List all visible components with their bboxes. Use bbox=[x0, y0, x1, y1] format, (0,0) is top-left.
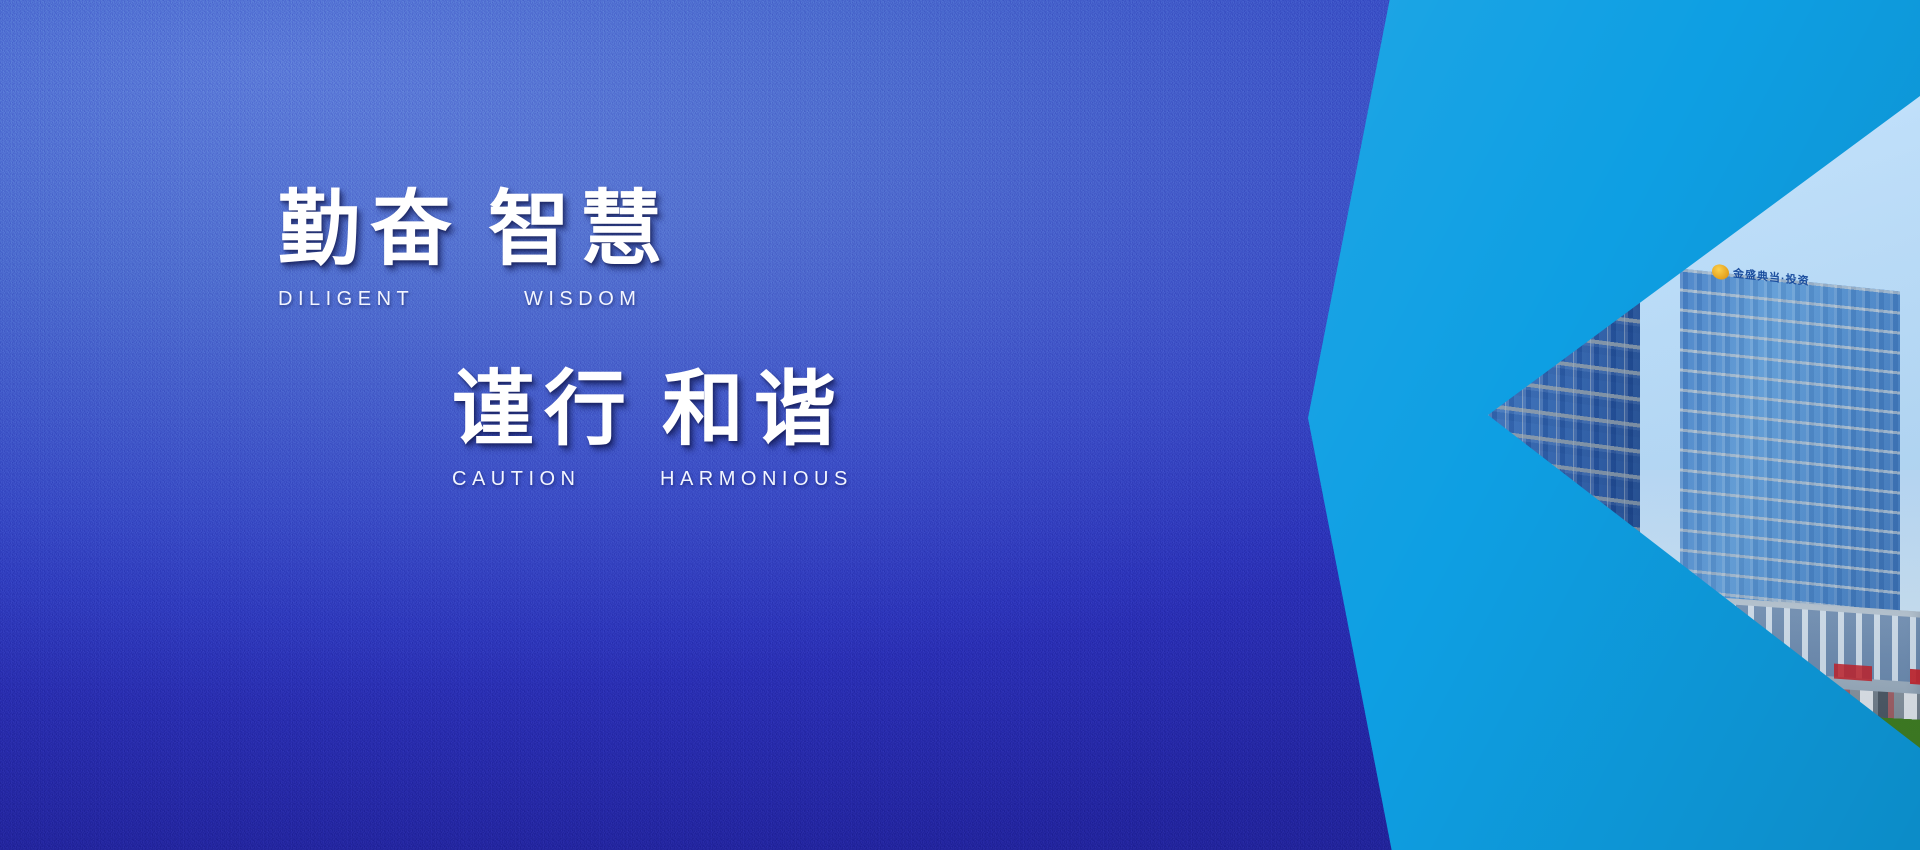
slogan-line-2: 谨行和谐 CAUTION HARMONIOUS bbox=[452, 368, 853, 491]
slogan-line-2-cn-a: 谨行 bbox=[452, 362, 636, 457]
slogan-line-2-english: CAUTION HARMONIOUS bbox=[452, 468, 853, 491]
slogan-line-2-chinese: 谨行和谐 bbox=[452, 368, 853, 452]
mid-rise-floors bbox=[1190, 321, 1300, 638]
slogan-line-1-en-a: DILIGENT bbox=[278, 288, 524, 311]
slogan-line-1-en-b: WISDOM bbox=[524, 288, 641, 311]
banner-root: 勤奋智慧 DILIGENT WISDOM 谨行和谐 CAUTION HARMON… bbox=[0, 0, 1920, 850]
slogan-line-1-english: DILIGENT WISDOM bbox=[278, 288, 672, 311]
slogan-line-1: 勤奋智慧 DILIGENT WISDOM bbox=[278, 188, 672, 311]
slogan-block: 勤奋智慧 DILIGENT WISDOM 谨行和谐 CAUTION HARMON… bbox=[0, 0, 1100, 850]
chevron-photo-composition: 金盛典当·投资 江苏国泰 bbox=[1040, 0, 1920, 850]
slogan-line-2-cn-b: 和谐 bbox=[662, 362, 846, 457]
slogan-line-2-en-a: CAUTION bbox=[452, 468, 660, 491]
mid-rise-block bbox=[1190, 321, 1300, 638]
slogan-line-1-chinese: 勤奋智慧 bbox=[278, 188, 672, 272]
slogan-line-2-en-b: HARMONIOUS bbox=[660, 468, 853, 491]
slogan-line-1-cn-a: 勤奋 bbox=[278, 182, 462, 277]
slogan-line-1-cn-b: 智慧 bbox=[488, 182, 672, 277]
